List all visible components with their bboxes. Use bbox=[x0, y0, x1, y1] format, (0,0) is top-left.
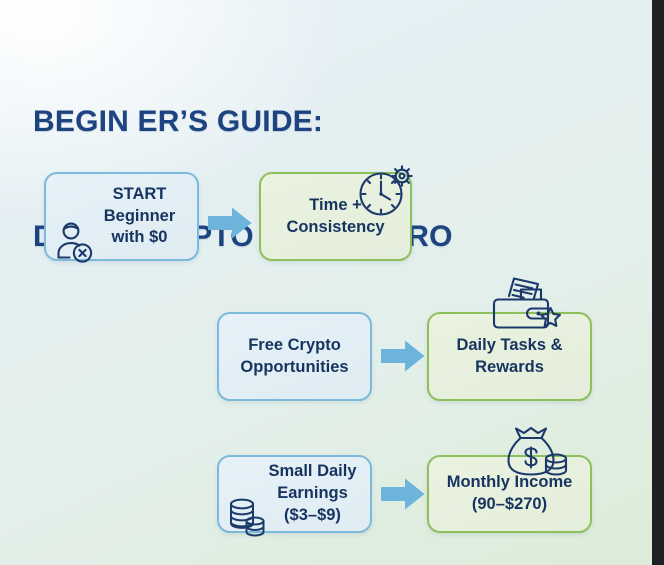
flow-node-label: Monthly Income (90–$270) bbox=[439, 472, 581, 516]
wallet-star-icon bbox=[487, 274, 563, 336]
arrow-right-icon-row-1 bbox=[206, 205, 254, 241]
flow-node-label: START Beginner with $0 bbox=[60, 184, 184, 250]
right-edge-band bbox=[652, 0, 664, 565]
arrow-right-icon-row-3 bbox=[379, 476, 427, 512]
flow-node-free-crypto-opportunities[interactable]: Free Crypto Opportunities bbox=[217, 312, 372, 401]
flow-node-label: Free Crypto Opportunities bbox=[232, 335, 356, 379]
flow-node-label: Time + Consistency bbox=[278, 195, 392, 239]
flow-node-label: Daily Tasks & Rewards bbox=[448, 335, 570, 379]
flow-node-small-daily-earnings[interactable]: Small Daily Earnings ($3–$9) bbox=[217, 455, 372, 533]
infographic-canvas: BEGIN ER’S GUIDE: DAILY CRYPTO FROM ZERO… bbox=[0, 0, 664, 565]
page-title-line-1: BEGIN ER’S GUIDE: bbox=[33, 103, 633, 141]
arrow-right-icon-row-2 bbox=[379, 338, 427, 374]
flow-node-label: Small Daily Earnings ($3–$9) bbox=[224, 461, 364, 527]
flow-node-start-beginner[interactable]: START Beginner with $0 bbox=[44, 172, 199, 261]
